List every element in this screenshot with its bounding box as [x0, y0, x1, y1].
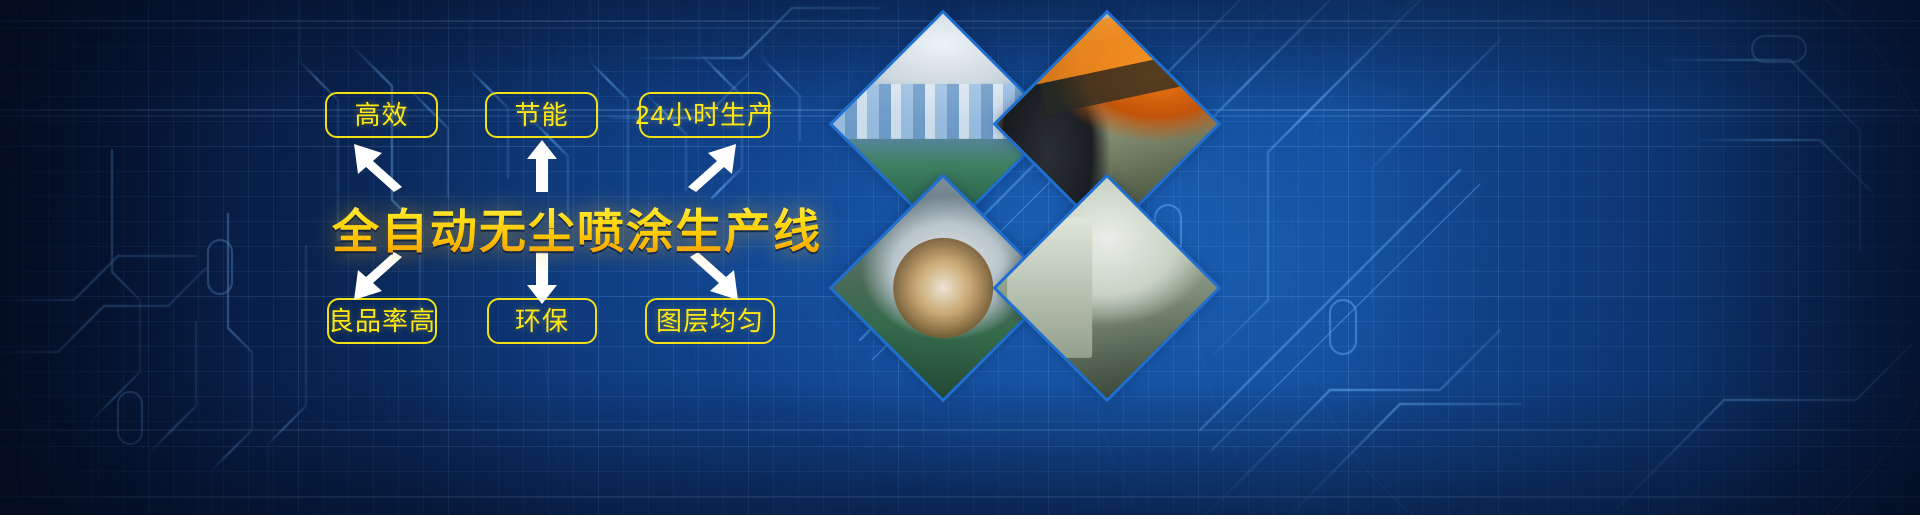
feature-chip-label: 图层均匀 — [656, 308, 764, 334]
feature-chip-label: 良品率高 — [328, 308, 436, 334]
feature-chip-label: 高效 — [354, 102, 408, 128]
feature-chip-top-1[interactable]: 节能 — [485, 92, 598, 138]
feature-chip-label: 环保 — [515, 308, 569, 334]
collage-tile-right[interactable] — [997, 178, 1218, 399]
arrow-up-left-icon — [350, 140, 410, 192]
diamond-photo-collage — [855, 36, 1195, 376]
feature-chip-top-2[interactable]: 24小时生产 — [639, 92, 770, 138]
feature-chip-top-0[interactable]: 高效 — [325, 92, 438, 138]
arrow-up-right-icon — [680, 140, 740, 192]
feature-chip-label: 24小时生产 — [635, 102, 774, 128]
feature-flow-diagram: 高效 节能 24小时生产 良品率高 环保 图层均匀 — [0, 0, 860, 515]
arrow-up-icon — [527, 140, 557, 192]
feature-chip-bottom-1[interactable]: 环保 — [487, 298, 597, 344]
banner-headline: 全自动无尘喷涂生产线 — [332, 193, 822, 262]
coating-machinery-photo — [997, 178, 1218, 399]
feature-chip-bottom-0[interactable]: 良品率高 — [327, 298, 437, 344]
feature-chip-bottom-2[interactable]: 图层均匀 — [645, 298, 775, 344]
feature-chip-label: 节能 — [514, 102, 568, 128]
promo-banner: 高效 节能 24小时生产 良品率高 环保 图层均匀 — [0, 0, 1920, 515]
